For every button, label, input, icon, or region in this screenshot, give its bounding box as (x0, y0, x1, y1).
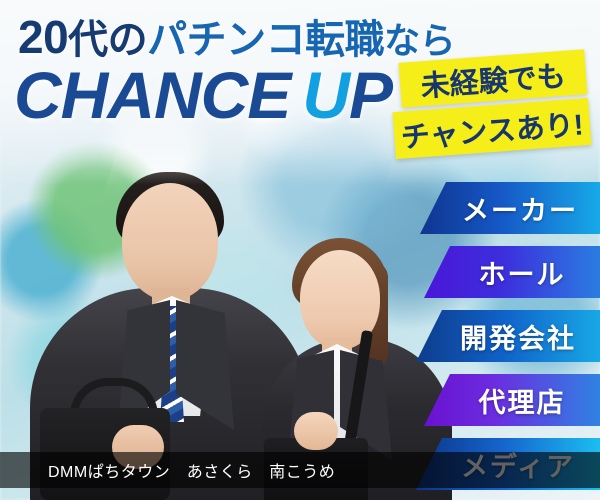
tag-hall-label: ホール (459, 253, 566, 292)
tag-agency[interactable]: 代理店 (424, 374, 600, 426)
pachinko-job-banner[interactable]: 20代のパチンコ転職なら CHANCEUP 未経験でも チャンスあり! メーカー… (0, 0, 600, 500)
tag-hall[interactable]: ホール (424, 246, 600, 298)
tag-maker-label: メーカー (442, 189, 578, 228)
credit-text: DMMぱちタウン あさくら 南こうめ (0, 458, 335, 482)
tag-agency-label: 代理店 (459, 381, 566, 420)
category-tag-list: メーカー ホール 開発会社 代理店 メディア (0, 0, 600, 500)
tag-development-company-label: 開発会社 (440, 317, 576, 356)
tag-maker[interactable]: メーカー (420, 182, 600, 234)
tag-development-company[interactable]: 開発会社 (416, 310, 600, 362)
credit-bar: DMMぱちタウン あさくら 南こうめ (0, 452, 600, 488)
